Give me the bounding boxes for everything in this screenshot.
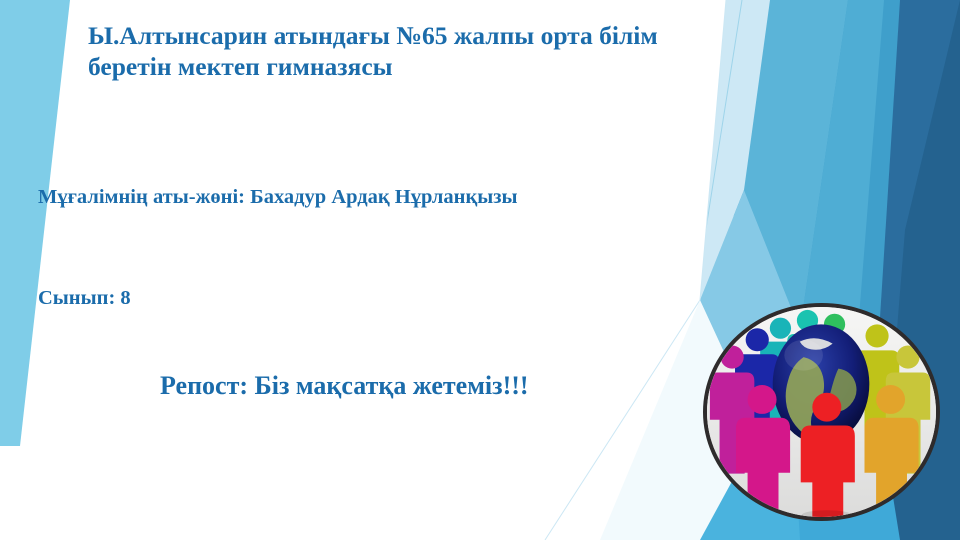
presentation-slide: Ы.Алтынсарин атындағы №65 жалпы орта біл… bbox=[0, 0, 960, 540]
slide-title: Ы.Алтынсарин атындағы №65 жалпы орта біл… bbox=[88, 20, 728, 82]
grade-line: Сынып: 8 bbox=[38, 286, 458, 311]
repost-slogan: Репост: Біз мақсатқа жетеміз!!! bbox=[160, 370, 720, 402]
slide-text-layer: Ы.Алтынсарин атындағы №65 жалпы орта біл… bbox=[0, 0, 960, 540]
teacher-name-line: Мұғалімнің аты-жөні: Бахадур Ардақ Нұрла… bbox=[38, 185, 758, 210]
